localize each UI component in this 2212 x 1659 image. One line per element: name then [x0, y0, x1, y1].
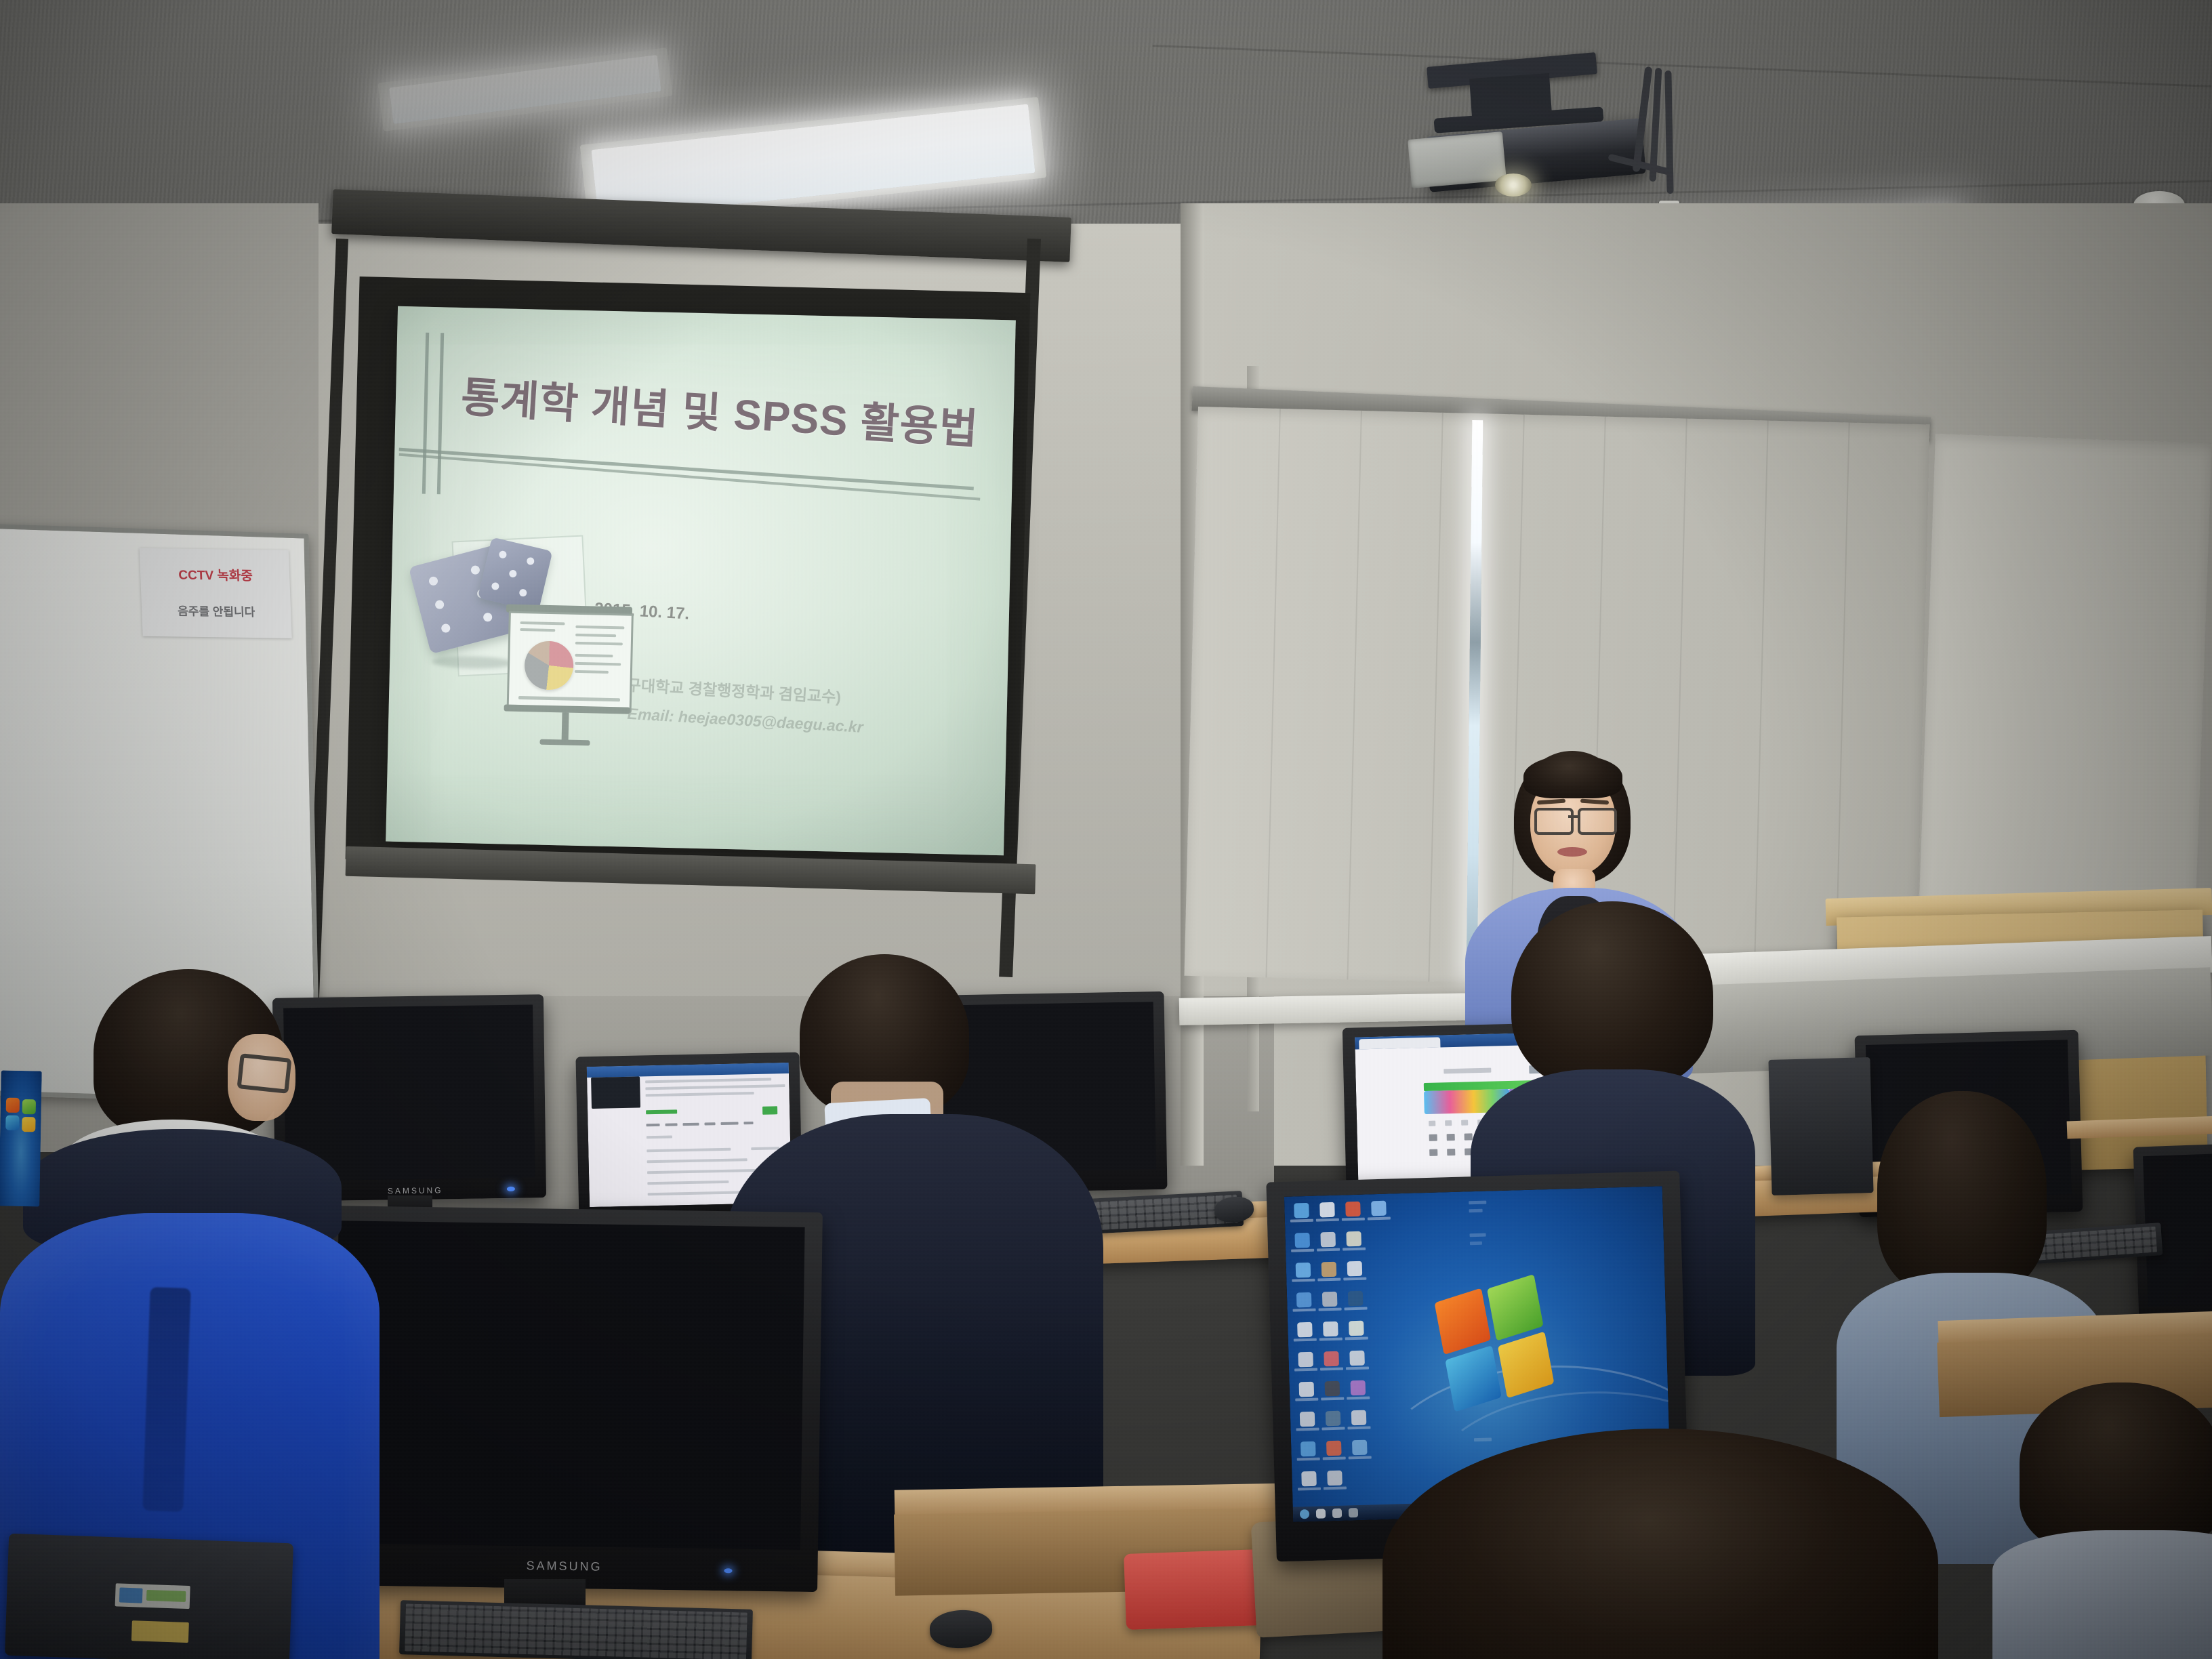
mouth: [1557, 847, 1587, 857]
chair: [5, 1534, 293, 1659]
monitor-brand-logo: SAMSUNG: [388, 1185, 443, 1195]
cctv-notice-sign: CCTV 녹화중 음주를 안됩니다: [140, 548, 292, 638]
student-right-edge: [2006, 1382, 2212, 1659]
keyboard[interactable]: [399, 1600, 753, 1659]
student-curly-hair-hair: [1511, 901, 1713, 1091]
screen-windows7-desktop: [0, 1070, 42, 1206]
glasses-bridge: [1568, 815, 1579, 818]
board-panel: [507, 611, 634, 713]
monitor-front-left[interactable]: SAMSUNG: [316, 1206, 823, 1592]
projector-lens-icon: [1495, 173, 1532, 197]
slide-illustration: [407, 529, 636, 764]
projection-screen-surface: 통계학 개념 및 SPSS 활용법 2015. 10. 17. 김희재(대구대학…: [386, 306, 1016, 855]
jacket-text: [142, 1287, 190, 1512]
student-right-edge-hair: [2020, 1382, 2212, 1552]
screen-off: [334, 1221, 805, 1550]
projector-vent: [1408, 131, 1507, 188]
glasses-icon: [1534, 808, 1574, 835]
board-foot: [539, 739, 590, 746]
student-long-hair-hair: [1877, 1091, 2047, 1294]
student-front-right: [1382, 1429, 1938, 1659]
monitor-brand-logo: SAMSUNG: [526, 1559, 602, 1574]
monitor-edge-left[interactable]: [0, 1070, 42, 1206]
cctv-notice-line1: CCTV 녹화중: [151, 565, 281, 585]
glasses-icon: [1578, 808, 1617, 835]
classroom-photo: 통계학 개념 및 SPSS 활용법 2015. 10. 17. 김희재(대구대학…: [0, 0, 2212, 1659]
student-right-edge-top: [1992, 1530, 2212, 1659]
presenter-fringe: [1523, 755, 1622, 798]
pie-chart-icon: [524, 640, 574, 691]
projector-cable: [1664, 70, 1673, 194]
student-front-right-hair: [1382, 1429, 1938, 1659]
cctv-notice-line2: 음주를 안됩니다: [148, 601, 285, 620]
doc-thumbnail: [591, 1077, 640, 1109]
glasses-icon: [237, 1053, 291, 1094]
